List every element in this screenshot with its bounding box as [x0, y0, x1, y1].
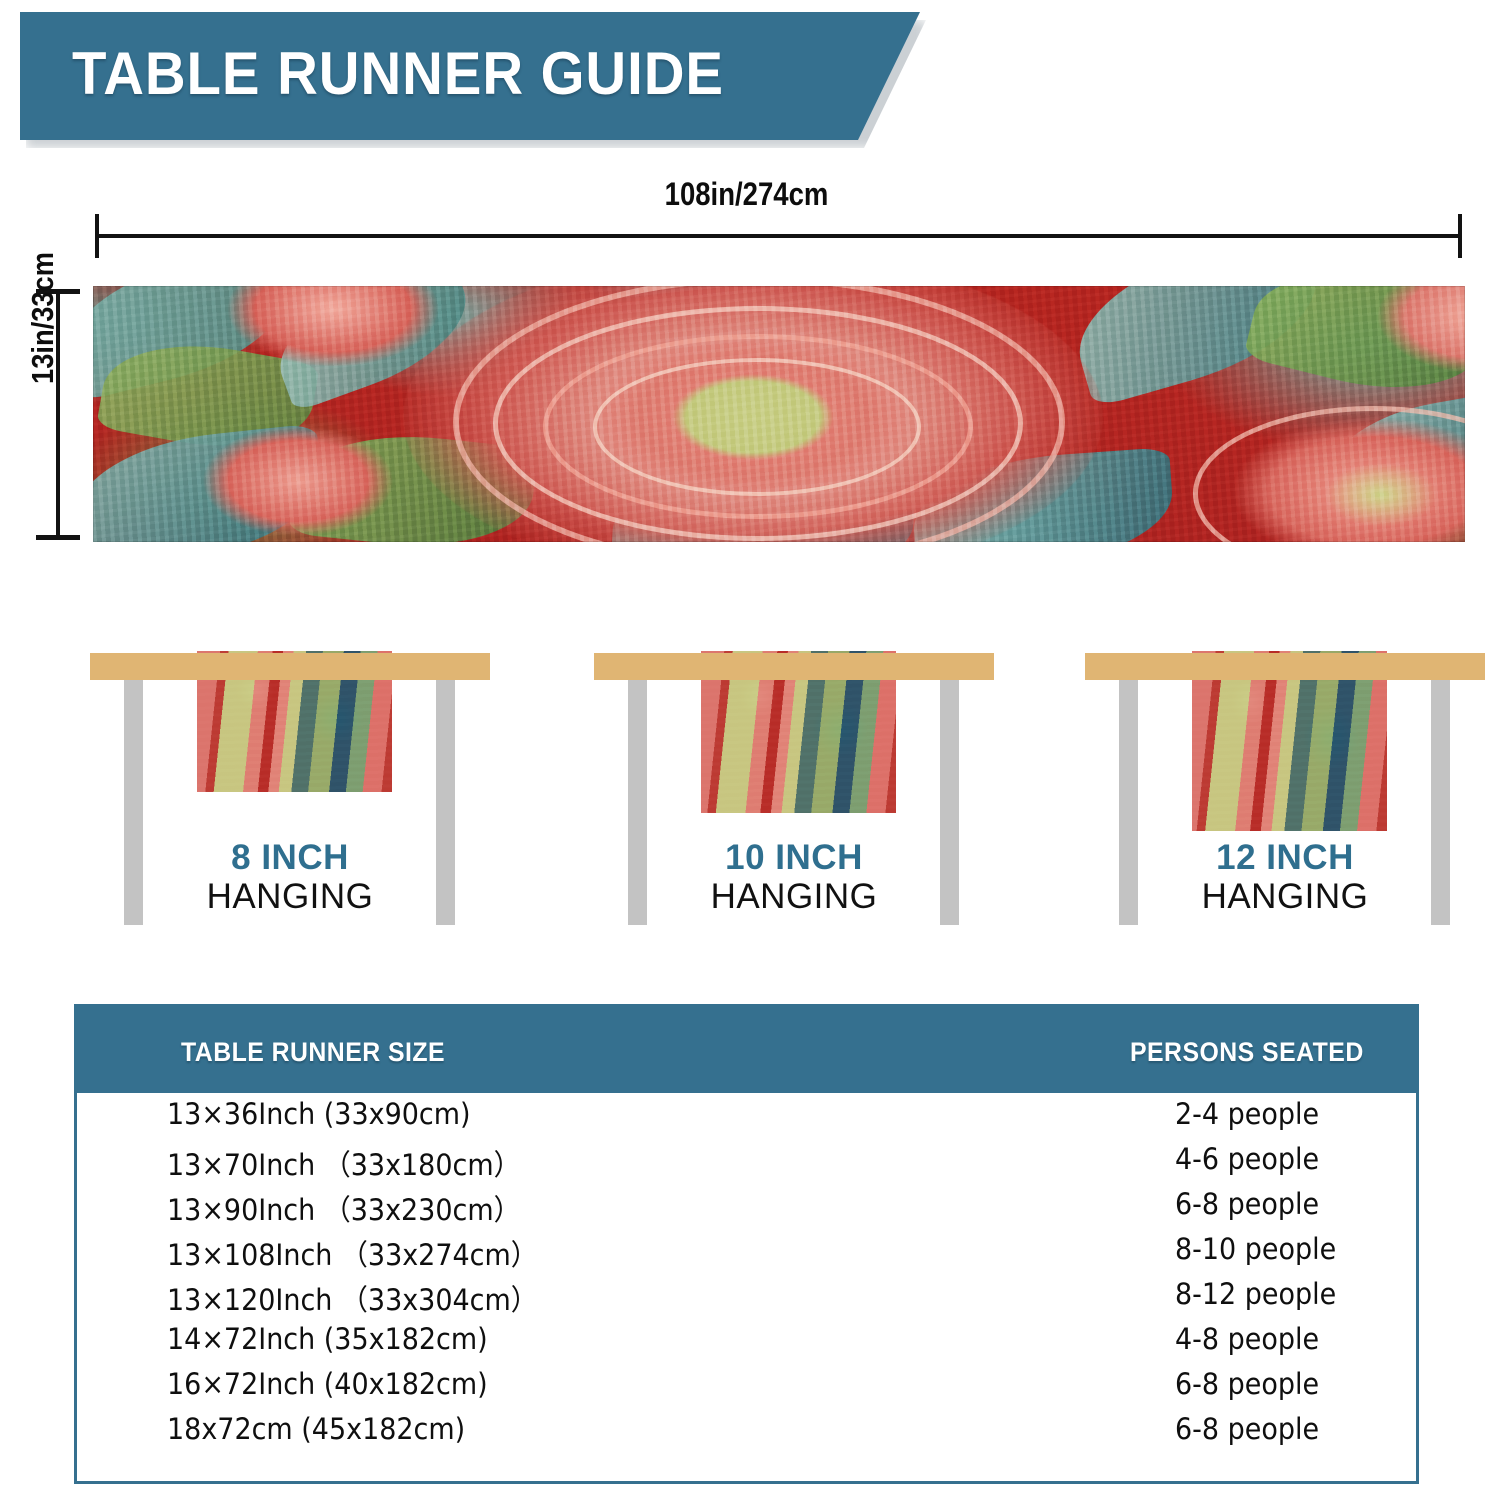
cell-runner-size: 13×70Inch （33x180cm） — [167, 1142, 521, 1184]
table-row: 14×72Inch (35x182cm) 4-8 people — [77, 1318, 1416, 1363]
table-row: 13×120Inch （33x304cm） 8-12 people — [77, 1273, 1416, 1318]
hanging-label: 8 INCH HANGING — [90, 840, 490, 916]
cell-persons-seated: 6-8 people — [1175, 1187, 1319, 1221]
cell-persons-seated: 8-10 people — [1175, 1232, 1336, 1266]
tabletop — [594, 653, 994, 680]
cell-persons-seated: 2-4 people — [1175, 1097, 1319, 1131]
width-dimension-line — [95, 234, 1462, 238]
height-dimension-cap-bottom — [36, 535, 80, 540]
runner-width-label: 108in/274cm — [105, 176, 1389, 213]
hanging-word: HANGING — [1085, 877, 1485, 916]
table-row: 18x72cm (45x182cm) 6-8 people — [77, 1408, 1416, 1453]
table-row: 13×90Inch （33x230cm） 6-8 people — [77, 1183, 1416, 1228]
hanging-label: 10 INCH HANGING — [594, 840, 994, 916]
cell-runner-size: 18x72cm (45x182cm) — [167, 1412, 465, 1446]
hanging-amount: 8 INCH — [90, 840, 490, 877]
table-row: 16×72Inch (40x182cm) 6-8 people — [77, 1363, 1416, 1408]
hanging-amount: 10 INCH — [594, 840, 994, 877]
cell-persons-seated: 6-8 people — [1175, 1412, 1319, 1446]
table-runner-guide-page: TABLE RUNNER GUIDE 108in/274cm 13in/33cm — [0, 0, 1493, 1500]
cell-runner-size: 16×72Inch (40x182cm) — [167, 1367, 488, 1401]
hanging-example-8-inch: 8 INCH HANGING — [90, 640, 490, 940]
table-row: 13×36Inch (33x90cm) 2-4 people — [77, 1093, 1416, 1138]
cell-persons-seated: 8-12 people — [1175, 1277, 1336, 1311]
floral-pattern — [93, 286, 1465, 542]
table-header-row: TABLE RUNNER SIZE PERSONS SEATED — [77, 1007, 1416, 1093]
cell-runner-size: 13×108Inch （33x274cm） — [167, 1232, 538, 1274]
column-header-size: TABLE RUNNER SIZE — [181, 1037, 445, 1068]
cell-runner-size: 14×72Inch (35x182cm) — [167, 1322, 488, 1356]
cell-runner-size: 13×120Inch （33x304cm） — [167, 1277, 538, 1319]
page-title: TABLE RUNNER GUIDE — [72, 44, 724, 104]
hanging-amount: 12 INCH — [1085, 840, 1485, 877]
cell-runner-size: 13×36Inch (33x90cm) — [167, 1097, 471, 1131]
width-dimension-cap-right — [1458, 214, 1462, 258]
cell-runner-size: 13×90Inch （33x230cm） — [167, 1187, 521, 1229]
runner-height-label: 13in/33cm — [25, 217, 61, 419]
tabletop — [90, 653, 490, 680]
width-dimension-cap-left — [95, 214, 99, 258]
tabletop — [1085, 653, 1485, 680]
hanging-label: 12 INCH HANGING — [1085, 840, 1485, 916]
column-header-seats: PERSONS SEATED — [1130, 1037, 1364, 1068]
cell-persons-seated: 4-8 people — [1175, 1322, 1319, 1356]
hanging-examples-row: 8 INCH HANGING 10 INCH HANGING — [0, 640, 1493, 940]
cell-persons-seated: 4-6 people — [1175, 1142, 1319, 1176]
table-row: 13×108Inch （33x274cm） 8-10 people — [77, 1228, 1416, 1273]
hanging-example-12-inch: 12 INCH HANGING — [1085, 640, 1485, 940]
hanging-word: HANGING — [594, 877, 994, 916]
runner-product-image — [93, 286, 1465, 542]
table-body: 13×36Inch (33x90cm) 2-4 people 13×70Inch… — [77, 1093, 1416, 1481]
hanging-word: HANGING — [90, 877, 490, 916]
size-chart-table: TABLE RUNNER SIZE PERSONS SEATED 13×36In… — [74, 1004, 1419, 1484]
hanging-example-10-inch: 10 INCH HANGING — [594, 640, 994, 940]
brushstroke-texture-2 — [93, 286, 1465, 542]
header-banner: TABLE RUNNER GUIDE — [20, 12, 920, 140]
cell-persons-seated: 6-8 people — [1175, 1367, 1319, 1401]
table-row: 13×70Inch （33x180cm） 4-6 people — [77, 1138, 1416, 1183]
